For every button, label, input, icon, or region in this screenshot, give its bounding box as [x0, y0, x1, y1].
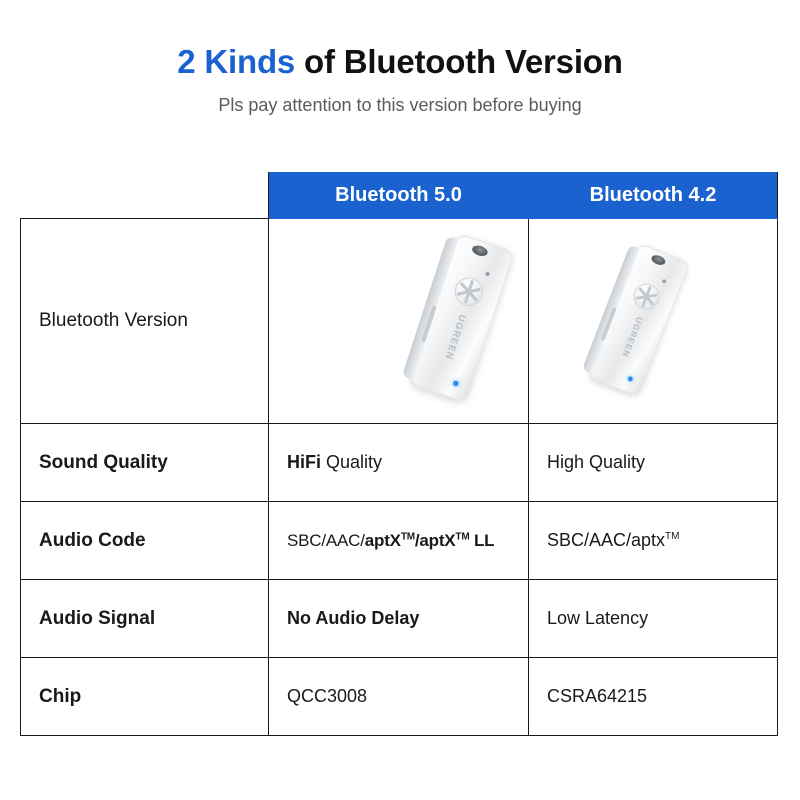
bluetooth-receiver-icon-50: UGREEN	[409, 233, 515, 403]
row-label-audio-signal: Audio Signal	[21, 580, 269, 658]
row-label-text: Audio Code	[39, 530, 146, 551]
header-blank-cell	[21, 173, 269, 219]
row-label-text: Audio Signal	[39, 608, 155, 629]
cell-device-image-42: UGREEN	[529, 219, 778, 424]
cell-audio-signal-50: No Audio Delay	[269, 580, 529, 658]
cell-sound-quality-50: HiFi Quality	[269, 424, 529, 502]
title-accent: 2 Kinds	[177, 43, 295, 80]
device-image-wrap-50: UGREEN	[269, 219, 528, 423]
trademark-symbol: TM	[401, 531, 415, 542]
table-row: Chip QCC3008 CSRA64215	[21, 658, 778, 736]
cell-value: CSRA64215	[547, 686, 647, 706]
table-row: Audio Code SBC/AAC/aptXTM/aptXTM LL SBC/…	[21, 502, 778, 580]
row-label-chip: Chip	[21, 658, 269, 736]
table-row: Audio Signal No Audio Delay Low Latency	[21, 580, 778, 658]
page-subtitle: Pls pay attention to this version before…	[0, 93, 800, 117]
cell-value-bold-ll: LL	[469, 531, 494, 550]
cell-audio-code-42: SBC/AAC/aptxTM	[529, 502, 778, 580]
trademark-symbol: TM	[455, 531, 469, 542]
cell-value: QCC3008	[287, 686, 367, 706]
heading-block: 2 Kinds of Bluetooth Version Pls pay att…	[0, 42, 800, 117]
row-label-sound-quality: Sound Quality	[21, 424, 269, 502]
row-label-bluetooth-version: Bluetooth Version	[21, 219, 269, 424]
cell-value: HiFi Quality	[287, 452, 382, 472]
column-header-bluetooth-50: Bluetooth 5.0	[269, 173, 529, 219]
cell-value-bold-aptx: aptX	[365, 531, 401, 550]
comparison-table: Bluetooth 5.0 Bluetooth 4.2 Bluetooth Ve…	[20, 172, 778, 736]
row-label-text: Sound Quality	[39, 452, 168, 473]
cell-value: High Quality	[547, 452, 645, 472]
cell-sound-quality-42: High Quality	[529, 424, 778, 502]
bluetooth-receiver-icon-42: UGREEN	[588, 243, 690, 397]
cell-value: SBC/AAC/aptXTM/aptXTM LL	[287, 531, 494, 550]
cell-audio-code-50: SBC/AAC/aptXTM/aptXTM LL	[269, 502, 529, 580]
cell-audio-signal-42: Low Latency	[529, 580, 778, 658]
cell-value-plain: SBC/AAC/	[287, 531, 365, 550]
column-header-bluetooth-42: Bluetooth 4.2	[529, 173, 778, 219]
cell-chip-50: QCC3008	[269, 658, 529, 736]
title-rest: of Bluetooth Version	[295, 43, 623, 80]
table-row: Bluetooth Version UGREEN	[21, 219, 778, 424]
cell-chip-42: CSRA64215	[529, 658, 778, 736]
cell-value-bold-aptx2: /aptX	[415, 531, 456, 550]
row-label-audio-code: Audio Code	[21, 502, 269, 580]
trademark-symbol: TM	[665, 531, 679, 542]
cell-value-rest: Quality	[321, 452, 382, 472]
cell-value-plain: SBC/AAC/aptx	[547, 530, 665, 550]
infographic-page: 2 Kinds of Bluetooth Version Pls pay att…	[0, 0, 800, 800]
cell-value: No Audio Delay	[287, 608, 419, 628]
table-row: Sound Quality HiFi Quality High Quality	[21, 424, 778, 502]
cell-value-bold: HiFi	[287, 452, 321, 472]
device-image-wrap-42: UGREEN	[529, 219, 777, 423]
cell-value: SBC/AAC/aptxTM	[547, 530, 680, 550]
cell-value-bold: No Audio Delay	[287, 608, 419, 628]
cell-device-image-50: UGREEN	[269, 219, 529, 424]
table-header-row: Bluetooth 5.0 Bluetooth 4.2	[21, 173, 778, 219]
page-title: 2 Kinds of Bluetooth Version	[0, 42, 800, 82]
cell-value: Low Latency	[547, 608, 648, 628]
row-label-text: Chip	[39, 686, 81, 707]
row-label-text: Bluetooth Version	[39, 310, 188, 331]
